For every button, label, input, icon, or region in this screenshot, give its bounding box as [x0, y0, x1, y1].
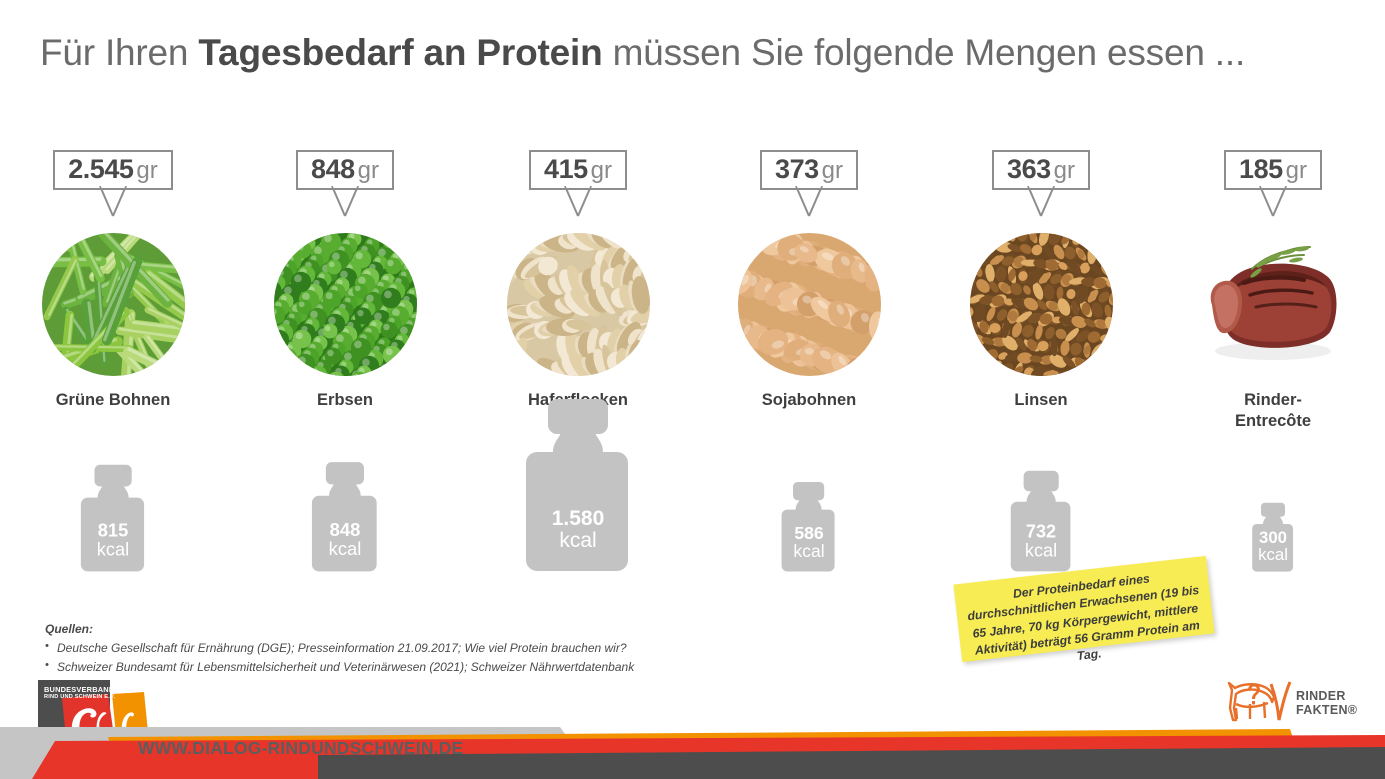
food-name: Erbsen: [250, 390, 440, 411]
kcal-weight-column: 586 kcal: [714, 481, 904, 688]
amount-unit: gr: [1054, 157, 1075, 184]
callout-pointer: [1011, 186, 1071, 222]
title-emphasis: Tagesbedarf an Protein: [198, 32, 602, 73]
food-column: 363gr Linsen: [946, 150, 1136, 411]
food-name: Sojabohnen: [714, 390, 904, 411]
callout-pointer: [779, 186, 839, 222]
kcal-weight-icon: 732 kcal: [1009, 470, 1073, 572]
amount-bubble: 848gr: [296, 150, 394, 190]
amount-value: 363: [1007, 154, 1051, 184]
amount-value: 373: [775, 154, 819, 184]
amount-bubble: 2.545gr: [53, 150, 172, 190]
callout-pointer: [548, 186, 608, 222]
kcal-weight-icon: 586 kcal: [780, 481, 837, 572]
amount-bubble: 373gr: [760, 150, 858, 190]
amount-callout: 373gr: [714, 150, 904, 206]
amount-callout: 415gr: [483, 150, 673, 206]
amount-callout: 2.545gr: [18, 150, 208, 206]
amount-value: 415: [544, 154, 588, 184]
food-name: Grüne Bohnen: [18, 390, 208, 411]
food-column: 185gr: [1178, 150, 1368, 431]
callout-pointer: [315, 186, 375, 222]
bundesverband-logo-text: BUNDESVERBAND RIND UND SCHWEIN E.V.: [44, 685, 115, 701]
kcal-weight-column: 815 kcal: [18, 464, 208, 671]
food-photo: [970, 233, 1113, 376]
infographic-canvas: Für Ihren Tagesbedarf an Protein müssen …: [0, 0, 1385, 779]
amount-value: 848: [311, 154, 355, 184]
website-url[interactable]: WWW.DIALOG-RINDUNDSCHWEIN.DE: [138, 738, 463, 759]
food-photo: [1198, 233, 1348, 376]
food-column: 2.545gr: [18, 150, 208, 411]
kcal-weight-icon: 1.580 kcal: [523, 397, 633, 572]
amount-unit: gr: [136, 157, 157, 184]
food-column: 848gr: [250, 150, 440, 411]
kcal-weight-column: 848 kcal: [250, 461, 440, 668]
amount-callout: 363gr: [946, 150, 1136, 206]
amount-bubble: 185gr: [1224, 150, 1322, 190]
amount-unit: gr: [591, 157, 612, 184]
kcal-weight-icon: 848 kcal: [310, 461, 380, 572]
kcal-weight-icon: 815 kcal: [79, 464, 147, 573]
kcal-weight-column: 732 kcal: [946, 470, 1136, 677]
amount-callout: 848gr: [250, 150, 440, 206]
food-photo: [738, 233, 881, 376]
amount-bubble: 363gr: [992, 150, 1090, 190]
amount-unit: gr: [1286, 157, 1307, 184]
amount-unit: gr: [358, 157, 379, 184]
title-lead: Für Ihren: [40, 32, 198, 73]
kcal-weight-icon: 300 kcal: [1251, 502, 1295, 572]
food-photo: [507, 233, 650, 376]
title-tail: müssen Sie folgende Mengen essen ...: [602, 32, 1245, 73]
amount-callout: 185gr: [1178, 150, 1368, 206]
bundesverband-logo-line2: RIND UND SCHWEIN E.V.: [44, 694, 115, 701]
callout-pointer: [1243, 186, 1303, 222]
amount-unit: gr: [822, 157, 843, 184]
food-column: 373gr: [714, 150, 904, 411]
amount-bubble: 415gr: [529, 150, 627, 190]
food-name: Rinder-Entrecôte: [1178, 390, 1368, 431]
food-column: 415gr Haferflocken: [483, 150, 673, 411]
food-photo: [274, 233, 417, 376]
callout-pointer: [83, 186, 143, 222]
page-title: Für Ihren Tagesbedarf an Protein müssen …: [40, 33, 1360, 74]
food-name: Linsen: [946, 390, 1136, 411]
amount-value: 185: [1239, 154, 1283, 184]
bundesverband-logo-line1: BUNDESVERBAND: [44, 685, 115, 694]
kcal-weight-column: 1.580 kcal: [483, 397, 673, 604]
food-photo: [42, 233, 185, 376]
kcal-weight-column: 300 kcal: [1178, 502, 1368, 709]
amount-value: 2.545: [68, 154, 133, 184]
